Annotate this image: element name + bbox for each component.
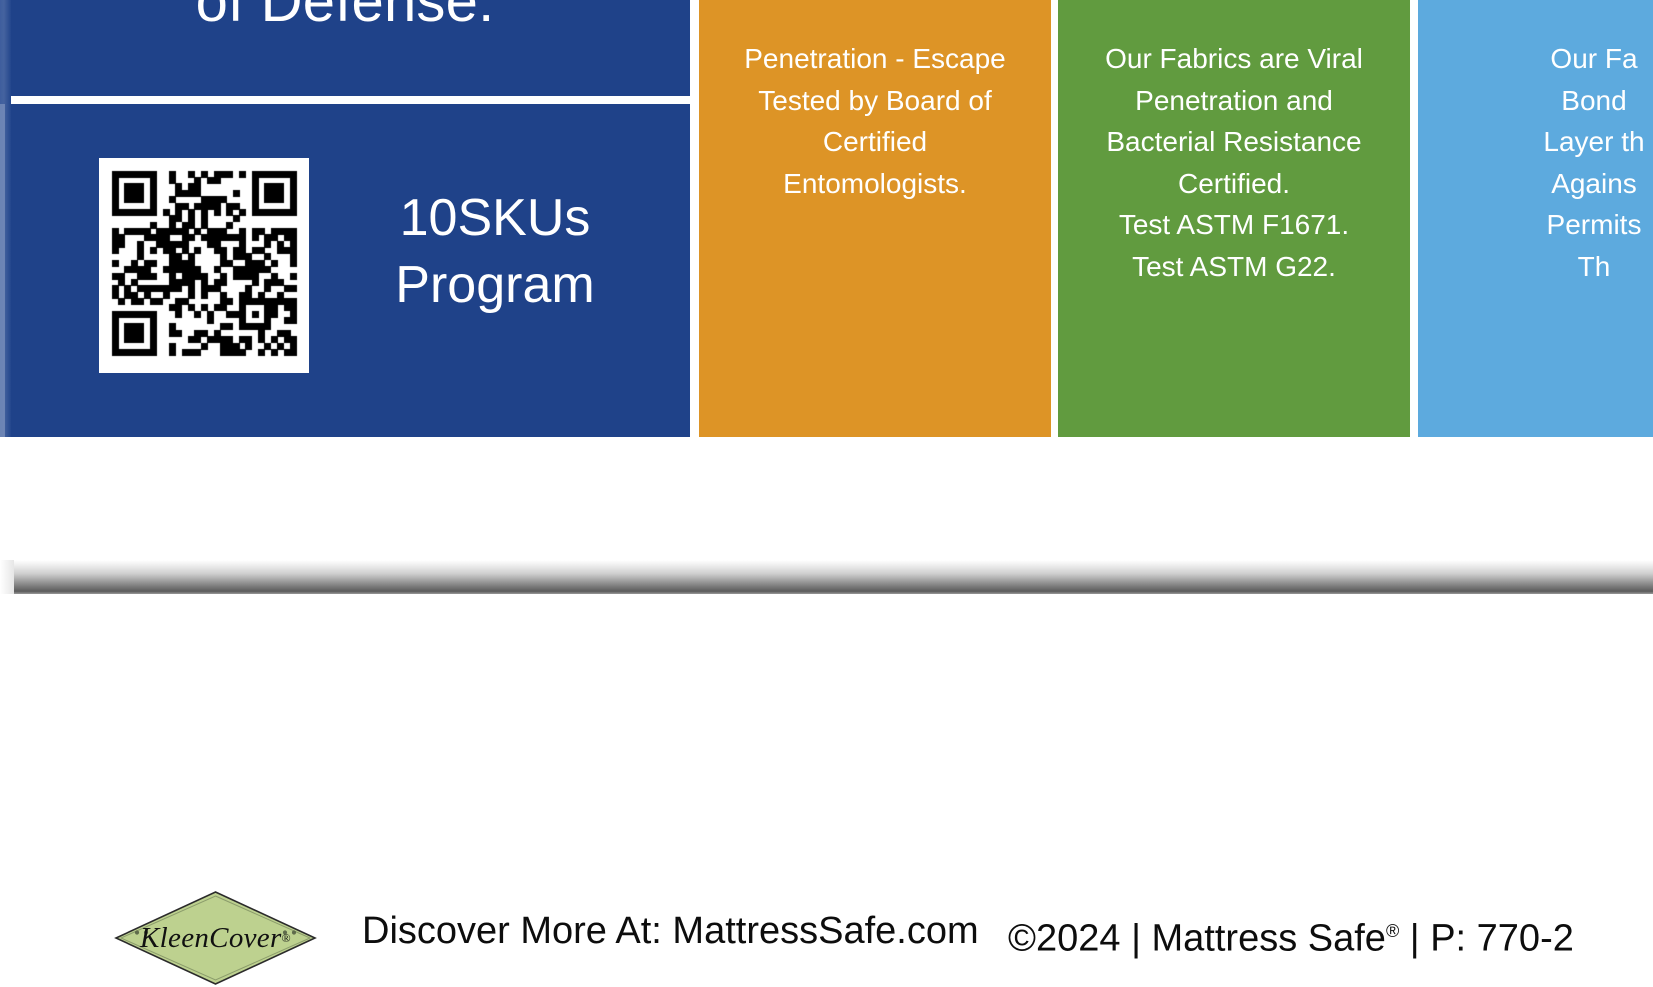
window-bottom-bar bbox=[0, 560, 1653, 594]
kleencover-registered-mark: ® bbox=[282, 931, 291, 946]
kleencover-wordmark-text: KleenCover bbox=[140, 922, 282, 955]
defense-title-band: of Defense: bbox=[0, 0, 690, 96]
kleencover-logo: KleenCover® bbox=[113, 889, 318, 987]
feature-panel-entomologist-text: Penetration - Escape Tested by Board of … bbox=[699, 0, 1051, 204]
feature-panel-entomologist: Penetration - Escape Tested by Board of … bbox=[699, 0, 1051, 437]
slide-canvas: of Defense: 10SKUs Program Penetration -… bbox=[0, 0, 1653, 594]
kleencover-wordmark: KleenCover® bbox=[113, 889, 318, 987]
sku-program-label: 10SKUs Program bbox=[330, 185, 660, 319]
feature-panel-bond-layer-text: Our Fa Bond Layer th Agains Permits Th bbox=[1418, 0, 1653, 287]
copyright-prefix: ©2024 | Mattress Safe bbox=[1008, 918, 1386, 960]
feature-panel-fabric-certification-text: Our Fabrics are Viral Penetration and Ba… bbox=[1058, 0, 1410, 287]
feature-panel-fabric-certification: Our Fabrics are Viral Penetration and Ba… bbox=[1058, 0, 1410, 437]
qr-code-image bbox=[99, 158, 309, 373]
qr-code[interactable] bbox=[99, 158, 309, 373]
page-title: of Defense: bbox=[0, 0, 690, 38]
footer: KleenCover® Discover More At: MattressSa… bbox=[0, 437, 1653, 557]
defense-column: of Defense: 10SKUs Program bbox=[0, 0, 690, 437]
discover-more-link[interactable]: Discover More At: MattressSafe.com bbox=[362, 907, 979, 955]
window-bottom-bar-cap bbox=[0, 560, 14, 594]
copyright-notice: ©2024 | Mattress Safe® | P: 770-2 bbox=[1008, 907, 1574, 963]
column-left-edge-sheen bbox=[0, 104, 5, 437]
copyright-registered-mark: ® bbox=[1386, 921, 1399, 941]
copyright-phone: | P: 770-2 bbox=[1399, 918, 1574, 960]
feature-panel-bond-layer: Our Fa Bond Layer th Agains Permits Th bbox=[1418, 0, 1653, 437]
